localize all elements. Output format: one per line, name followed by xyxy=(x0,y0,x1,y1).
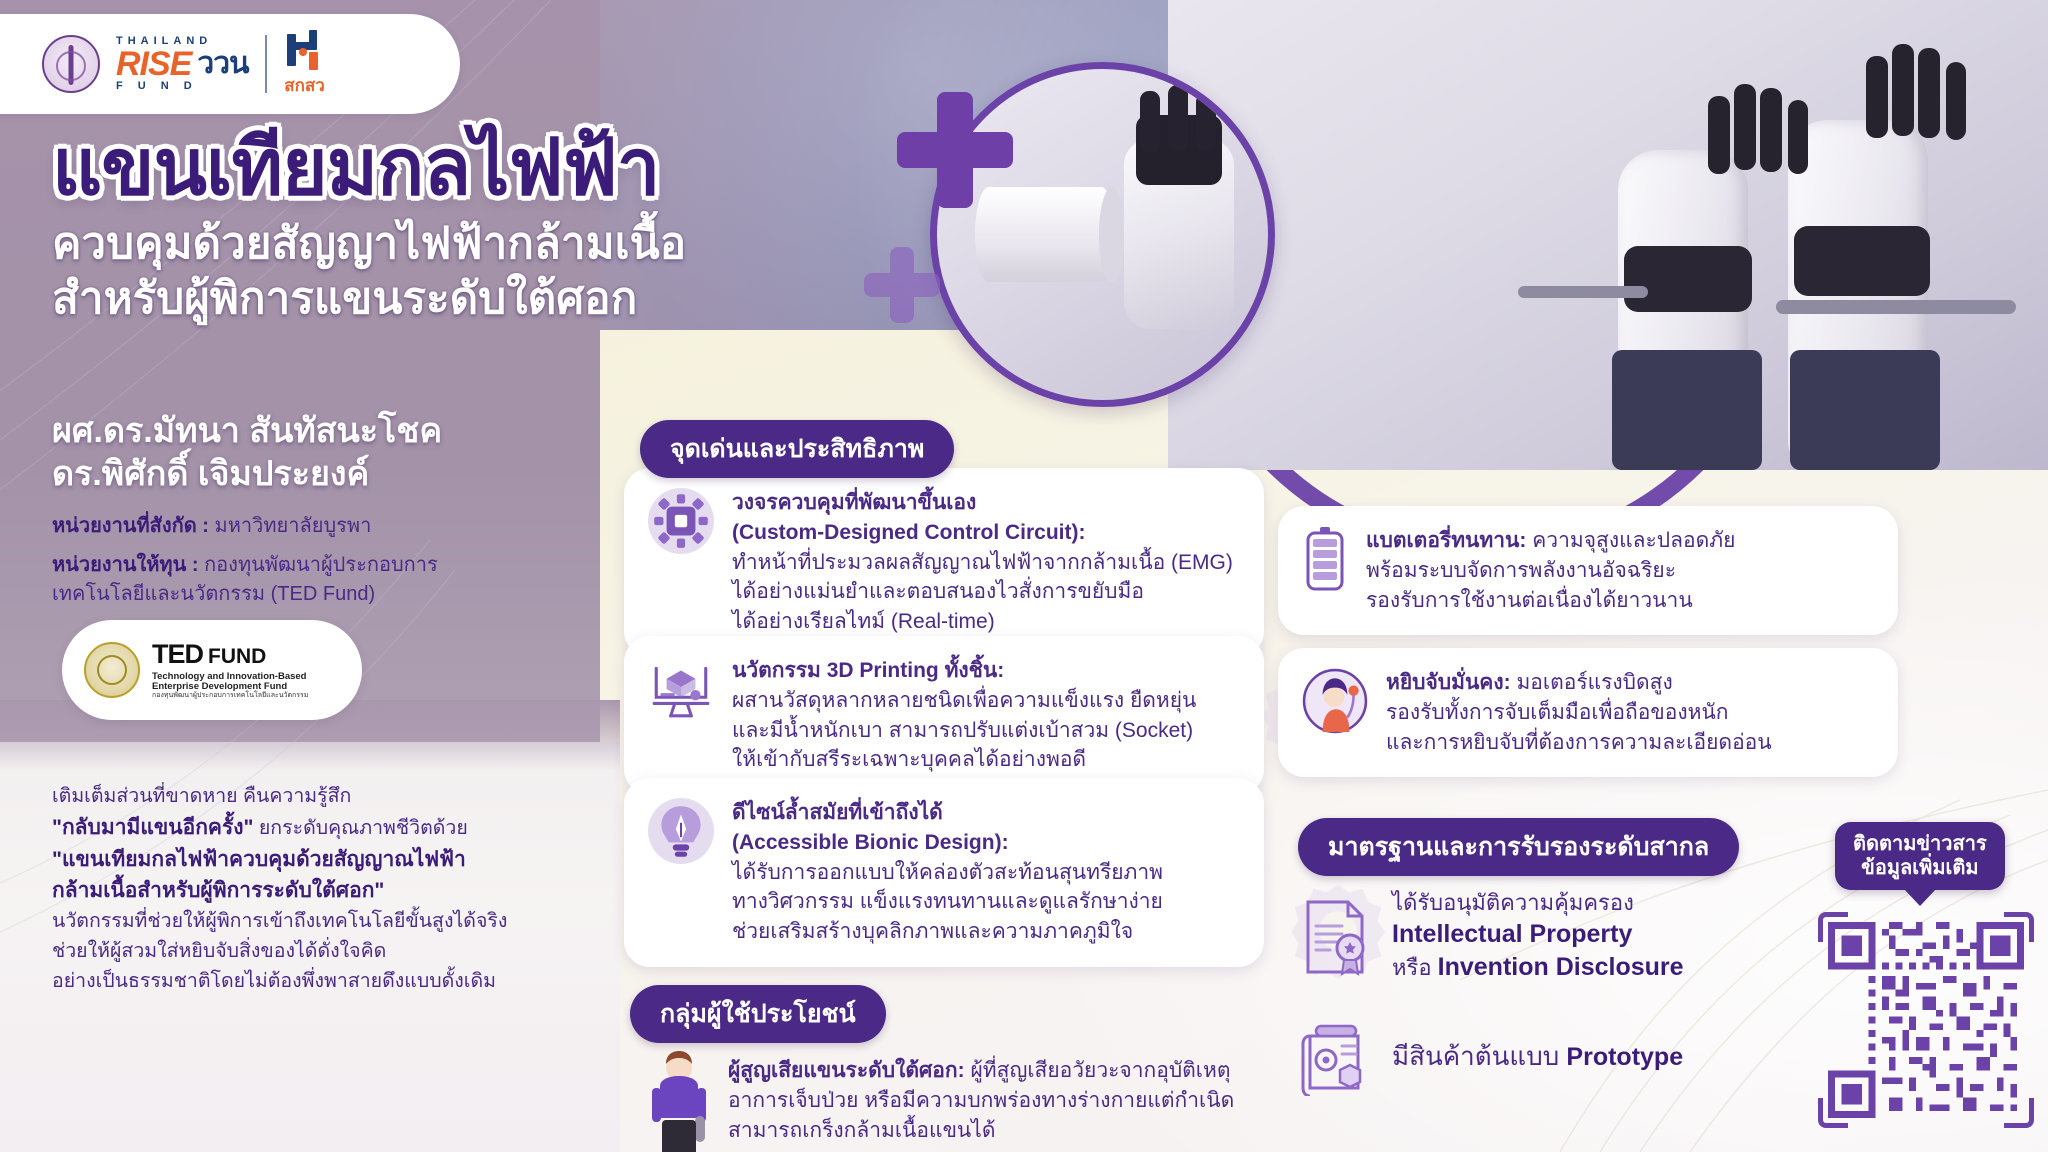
funder-value: กองทุนพัฒนาผู้ประกอบการ xyxy=(204,554,438,576)
story-body-line-2: ช่วยให้ผู้สวมใส่หยิบจับสิ่งของได้ดั่งใจค… xyxy=(52,937,612,967)
person-prosthetic-arm-icon xyxy=(648,1050,710,1152)
lightbulb-pen-icon xyxy=(648,798,714,864)
standard-1-line-3-th: หรือ xyxy=(1392,955,1438,980)
ted-fund-logo: TED FUND Technology and Innovation-Based… xyxy=(62,620,362,720)
qr-code[interactable] xyxy=(1828,922,2024,1118)
affiliation-value: มหาวิทยาลัยบูรพา xyxy=(215,515,372,537)
feature-1-head-th: วงจรควบคุมที่พัฒนาขึ้นเอง xyxy=(732,488,1233,518)
affiliation-label: หน่วยงานที่สังกัด : xyxy=(52,515,209,537)
prototype-blueprint-icon xyxy=(1300,1018,1372,1096)
feature-3-body-2: ทางวิศวกรรม แข็งแรงทนทานและดูแลรักษาง่าย xyxy=(732,887,1163,917)
story-body-line-1: นวัตกรรมที่ช่วยให้ผู้พิการเข้าถึงเทคโนโล… xyxy=(52,907,612,937)
title-subtitle-line2: สำหรับผู้พิการแขนระดับใต้ศอก xyxy=(52,271,1202,326)
users-card-body-3: สามารถเกร็งกล้ามเนื้อแขนได้ xyxy=(728,1116,1234,1146)
page-title: แขนเทียมกลไฟฟ้า xyxy=(52,128,1202,206)
story-quote-1: "กลับมามีแขนอีกครั้ง" xyxy=(52,816,253,839)
ted-fund-line-3: กองทุนพัฒนาผู้ประกอบการเทคโนโลยีและนวัตก… xyxy=(152,692,308,699)
right-card-2-body-2: รองรับทั้งการจับเต็มมือเพื่อถือของหนัก xyxy=(1386,698,1772,728)
title-block: แขนเทียมกลไฟฟ้า ควบคุมด้วยสัญญาไฟฟ้ากล้า… xyxy=(52,128,1202,327)
funder-line-2: เทคโนโลยีและนวัตกรรม (TED Fund) xyxy=(52,580,612,609)
logo-divider xyxy=(265,35,267,93)
feature-card-bionic-design: ดีไซน์ล้ำสมัยที่เข้าถึงได้ (Accessible B… xyxy=(624,778,1264,967)
rise-logo-thai: ววน xyxy=(197,49,248,79)
story-after-quote-1: ยกระดับคุณภาพชีวิตด้วย xyxy=(253,817,467,839)
right-card-2-line-1: หยิบจับมั่นคง: มอเตอร์แรงบิดสูง xyxy=(1386,668,1772,698)
certificate-document-icon xyxy=(1300,898,1372,976)
users-card-body-1: ผู้ที่สูญเสียอวัยวะจากอุบัติเหตุ xyxy=(965,1059,1231,1082)
author-name-1: ผศ.ดร.มัทนา สันทัสนะโชค xyxy=(52,410,612,453)
standard-2-line-1-th: มีสินค้าต้นแบบ xyxy=(1392,1041,1566,1071)
story-quote-row: "กลับมามีแขนอีกครั้ง" ยกระดับคุณภาพชีวิต… xyxy=(52,812,612,844)
ted-fund-seal-icon xyxy=(84,642,140,698)
standard-1-line-2: Intellectual Property xyxy=(1392,918,1684,952)
sksw-logo: สกสว xyxy=(283,30,327,99)
section-title-standards: มาตรฐานและการรับรองระดับสากล xyxy=(1298,818,1739,876)
author-block: ผศ.ดร.มัทนา สันทัสนะโชค ดร.พิศักดิ์ เจิม… xyxy=(52,410,612,609)
sksw-label: สกสว xyxy=(284,72,325,99)
burapha-university-seal-icon xyxy=(42,35,100,93)
feature-2-head-th: นวัตกรรม 3D Printing ทั้งชิ้น: xyxy=(732,656,1196,686)
right-card-1-body-2: พร้อมระบบจัดการพลังงานอัจฉริยะ xyxy=(1366,556,1735,586)
feature-1-body-1: ทำหน้าที่ประมวลผลสัญญาณไฟฟ้าจากกล้ามเนื้… xyxy=(732,548,1233,578)
right-card-2-body-1: มอเตอร์แรงบิดสูง xyxy=(1511,671,1673,694)
qr-bubble-line-2: ข้อมูลเพิ่มเติม xyxy=(1853,856,1987,880)
qr-callout-bubble: ติดตามข่าวสาร ข้อมูลเพิ่มเติม xyxy=(1835,822,2005,890)
right-card-1-body-1: ความจุสูงและปลอดภัย xyxy=(1526,529,1735,552)
standard-1-line-3: หรือ Invention Disclosure xyxy=(1392,951,1684,985)
rise-logo-bottom-text: F U N D xyxy=(116,81,249,92)
standard-row-ip: ได้รับอนุมัติความคุ้มครอง Intellectual P… xyxy=(1300,888,1770,985)
feature-2-body-3: ให้เข้ากับสรีระเฉพาะบุคคลได้อย่างพอดี xyxy=(732,745,1196,775)
right-card-2-body-3: และการหยิบจับที่ต้องการความละเอียดอ่อน xyxy=(1386,728,1772,758)
qr-bubble-line-1: ติดตามข่าวสาร xyxy=(1853,832,1987,856)
ted-fund-line-2: Enterprise Development Fund xyxy=(152,682,308,692)
standard-1-line-3-en: Invention Disclosure xyxy=(1438,953,1684,981)
story-paragraph: เติมเต็มส่วนที่ขาดหาย คืนความรู้สึก "กลั… xyxy=(52,782,612,996)
funder-line: หน่วยงานให้ทุน : กองทุนพัฒนาผู้ประกอบการ xyxy=(52,551,612,580)
feature-1-body-2: ได้อย่างแม่นยำและตอบสนองไวสั่งการขยับมือ xyxy=(732,577,1233,607)
standard-1-line-1: ได้รับอนุมัติความคุ้มครอง xyxy=(1392,888,1684,918)
users-card-body-2: อาการเจ็บป่วย หรือมีความบกพร่องทางร่างกา… xyxy=(728,1086,1234,1116)
section-title-users: กลุ่มผู้ใช้ประโยชน์ xyxy=(630,985,886,1043)
story-line-1: เติมเต็มส่วนที่ขาดหาย คืนความรู้สึก xyxy=(52,782,612,812)
feature-card-3d-printing: นวัตกรรม 3D Printing ทั้งชิ้น: ผสานวัสดุ… xyxy=(624,636,1264,795)
right-card-1-head: แบตเตอรี่ทนทาน: xyxy=(1366,529,1526,552)
feature-2-body-1: ผสานวัสดุหลากหลายชนิดเพื่อความแข็งแรง ยื… xyxy=(732,686,1196,716)
prosthetic-arms-photo xyxy=(1168,0,2048,470)
ted-fund-line-1: Technology and Innovation-Based xyxy=(152,672,308,682)
standard-row-prototype: มีสินค้าต้นแบบ Prototype xyxy=(1300,1018,1770,1096)
ted-fund-mark-ted: TED xyxy=(152,640,203,668)
funder-label: หน่วยงานให้ทุน : xyxy=(52,554,199,576)
poster-root: THAILAND RISE ววน F U N D สกสว แขนเทียมก… xyxy=(0,0,2048,1152)
story-quote-2-line-1: "แขนเทียมกลไฟฟ้าควบคุมด้วยสัญญาณไฟฟ้า xyxy=(52,848,466,871)
feature-3-body-1: ได้รับการออกแบบให้คล่องตัวสะท้อนสุนทรียภ… xyxy=(732,858,1163,888)
chip-gear-icon xyxy=(648,488,714,554)
header-logo-bar: THAILAND RISE ววน F U N D สกสว xyxy=(0,14,460,114)
story-body-line-3: อย่างเป็นธรรมชาติโดยไม่ต้องพึ่งพาสายดึงแ… xyxy=(52,967,612,997)
thailand-rise-fund-logo: THAILAND RISE ววน F U N D xyxy=(116,36,249,92)
right-card-2-head: หยิบจับมั่นคง: xyxy=(1386,671,1511,694)
ted-fund-mark-fund: FUND xyxy=(208,646,266,668)
feature-2-body-2: และมีน้ำหนักเบา สามารถปรับแต่งเบ้าสวม (S… xyxy=(732,716,1196,746)
right-card-1-body-3: รองรับการใช้งานต่อเนื่องได้ยาวนาน xyxy=(1366,586,1735,616)
sksw-mark-icon xyxy=(283,30,327,70)
funder-value-2: เทคโนโลยีและนวัตกรรม (TED Fund) xyxy=(52,583,375,605)
feature-1-head-en: (Custom-Designed Control Circuit): xyxy=(732,518,1233,548)
rise-logo-word: RISE xyxy=(116,47,191,81)
3d-printer-monitor-icon xyxy=(648,656,714,722)
users-card-line-1: ผู้สูญเสียแขนระดับใต้ศอก: ผู้ที่สูญเสียอ… xyxy=(728,1056,1234,1086)
right-card-1-line-1: แบตเตอรี่ทนทาน: ความจุสูงและปลอดภัย xyxy=(1366,526,1735,556)
feature-card-grip: หยิบจับมั่นคง: มอเตอร์แรงบิดสูง รองรับทั… xyxy=(1278,648,1898,777)
section-title-features: จุดเด่นและประสิทธิภาพ xyxy=(640,420,954,478)
users-card-head: ผู้สูญเสียแขนระดับใต้ศอก: xyxy=(728,1059,965,1082)
title-subtitle-line1: ควบคุมด้วยสัญญาไฟฟ้ากล้ามเนื้อ xyxy=(52,216,1202,271)
feature-card-control-circuit: วงจรควบคุมที่พัฒนาขึ้นเอง (Custom-Design… xyxy=(624,468,1264,657)
story-quote-2-line-2: กล้ามเนื้อสำหรับผู้พิการระดับใต้ศอก" xyxy=(52,879,384,902)
feature-3-head-th: ดีไซน์ล้ำสมัยที่เข้าถึงได้ xyxy=(732,798,1163,828)
battery-icon xyxy=(1302,526,1348,592)
standard-2-line-1-en: Prototype xyxy=(1566,1043,1683,1071)
feature-3-body-3: ช่วยเสริมสร้างบุคลิกภาพและความภาคภูมิใจ xyxy=(732,917,1163,947)
feature-3-head-en: (Accessible Bionic Design): xyxy=(732,828,1163,858)
author-name-2: ดร.พิศักดิ์ เจิมประยงค์ xyxy=(52,453,612,496)
feature-1-body-3: ได้อย่างเรียลไทม์ (Real-time) xyxy=(732,607,1233,637)
woman-holding-flower-icon xyxy=(1302,668,1368,734)
feature-card-battery: แบตเตอรี่ทนทาน: ความจุสูงและปลอดภัย พร้อ… xyxy=(1278,506,1898,635)
affiliation-line: หน่วยงานที่สังกัด : มหาวิทยาลัยบูรพา xyxy=(52,512,612,541)
